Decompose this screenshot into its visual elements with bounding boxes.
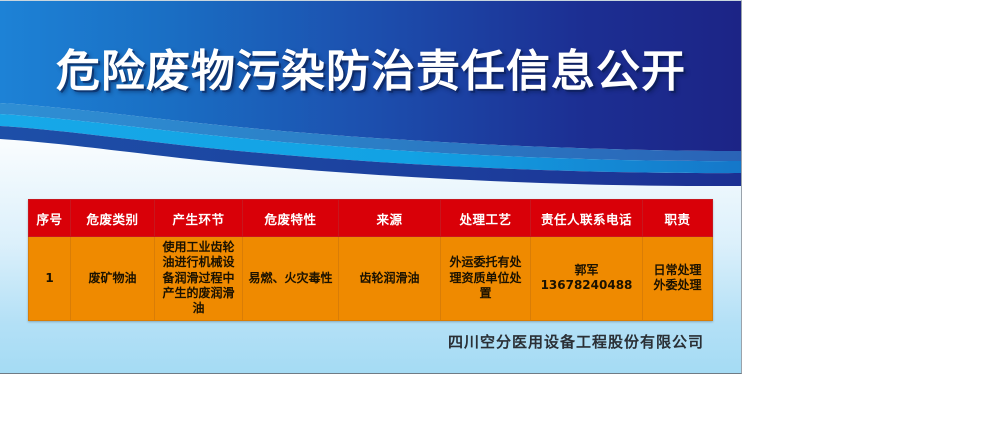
responsible-person-name: 郭军 [535,263,638,278]
col-header-duty: 职责 [643,200,713,237]
col-header-source-step: 产生环节 [155,200,243,237]
cell-source-step: 使用工业齿轮油进行机械设备润滑过程中产生的废润滑油 [155,237,243,321]
company-name: 四川空分医用设备工程股份有限公司 [0,331,712,352]
screenshot-canvas: 危险废物污染防治责任信息公开 序号 危废类别 产生环节 危废特性 来源 处理工艺 [0,0,1000,442]
page-title: 危险废物污染防治责任信息公开 [0,49,742,95]
col-header-process: 处理工艺 [441,200,531,237]
responsible-person-phone: 13678240488 [535,278,638,293]
hazardous-waste-table: 序号 危废类别 产生环节 危废特性 来源 处理工艺 责任人联系电话 职责 1 废… [28,199,713,321]
cell-origin: 齿轮润滑油 [339,237,441,321]
duty-line-2: 外委处理 [647,278,708,293]
table-header-row: 序号 危废类别 产生环节 危废特性 来源 处理工艺 责任人联系电话 职责 [29,200,713,237]
col-header-category: 危废类别 [71,200,155,237]
col-header-hazard-trait: 危废特性 [243,200,339,237]
cell-process: 外运委托有处理资质单位处置 [441,237,531,321]
poster-image: 危险废物污染防治责任信息公开 序号 危废类别 产生环节 危废特性 来源 处理工艺 [0,0,742,374]
cell-serial: 1 [29,237,71,321]
duty-line-1: 日常处理 [647,263,708,278]
col-header-origin: 来源 [339,200,441,237]
cell-duty: 日常处理 外委处理 [643,237,713,321]
cell-hazard-trait: 易燃、火灾毒性 [243,237,339,321]
table-row: 1 废矿物油 使用工业齿轮油进行机械设备润滑过程中产生的废润滑油 易燃、火灾毒性… [29,237,713,321]
cell-category: 废矿物油 [71,237,155,321]
cell-contact: 郭军 13678240488 [531,237,643,321]
col-header-contact: 责任人联系电话 [531,200,643,237]
hazardous-waste-table-container: 序号 危废类别 产生环节 危废特性 来源 处理工艺 责任人联系电话 职责 1 废… [28,199,712,321]
col-header-serial: 序号 [29,200,71,237]
